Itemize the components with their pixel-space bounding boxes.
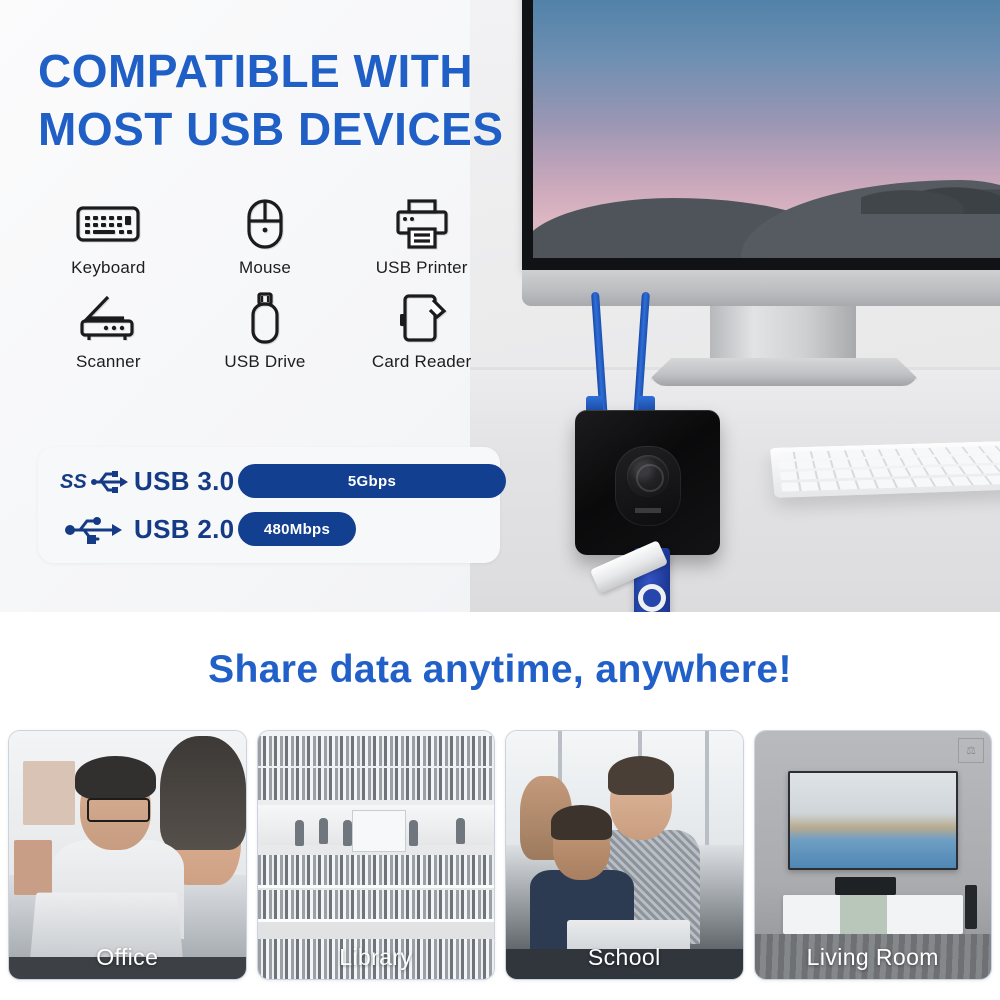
usb2-speed-badge: 480Mbps	[238, 512, 356, 546]
device-item-usb-printer: USB Printer	[343, 196, 500, 278]
svg-text:SS: SS	[60, 471, 87, 493]
library-photo	[258, 731, 495, 979]
usb3-standard-label: USB 3.0	[134, 466, 238, 497]
monitor-screen-wallpaper	[533, 0, 1000, 258]
scenario-card-library: Library	[257, 730, 496, 980]
card-reader-icon	[387, 290, 457, 346]
tagline: Share data anytime, anywhere!	[0, 648, 1000, 692]
school-photo	[506, 731, 743, 979]
product-infographic: COMPATIBLE WITH MOST USB DEVICES	[0, 0, 1000, 1000]
office-photo	[9, 731, 246, 979]
device-item-keyboard: Keyboard	[30, 196, 187, 278]
usb3-speed-badge: 5Gbps	[238, 464, 506, 498]
scenario-card-school: School	[505, 730, 744, 980]
device-item-card-reader: Card Reader	[343, 290, 500, 372]
usb2-standard-label: USB 2.0	[134, 514, 238, 545]
monitor-stand-neck	[710, 306, 856, 366]
device-item-scanner: Scanner	[30, 290, 187, 372]
switch-led-indicators	[635, 508, 661, 513]
usb-trident-logo	[60, 512, 134, 546]
watermark-icon: ⚖	[958, 738, 984, 762]
desk-scene-photo	[470, 0, 1000, 612]
hero-section: COMPATIBLE WITH MOST USB DEVICES	[0, 0, 1000, 612]
scenario-cards: Office Library	[8, 730, 992, 980]
scenario-card-living-room: ⚖ Living Room	[754, 730, 993, 980]
scanner-icon	[73, 290, 143, 346]
device-item-usb-drive: USB Drive	[187, 290, 344, 372]
device-label: USB Drive	[224, 352, 305, 372]
device-label: Scanner	[76, 352, 141, 372]
speed-row-usb2: USB 2.0 480Mbps	[60, 509, 356, 549]
mouse-icon	[230, 196, 300, 252]
usb-flash-drive	[618, 548, 680, 612]
usb-switch-device	[575, 410, 720, 555]
switch-button-pad	[615, 446, 681, 526]
living-room-photo: ⚖	[755, 731, 992, 979]
monitor-bezel	[522, 0, 1000, 270]
speed-row-usb3: SS USB 3.0 5Gbps	[60, 461, 506, 501]
scenario-card-office: Office	[8, 730, 247, 980]
monitor-stand-foot	[650, 358, 918, 386]
usb-superspeed-logo: SS	[60, 464, 134, 498]
card-label: Library	[258, 944, 495, 971]
device-label: Keyboard	[71, 258, 145, 278]
keyboard-icon	[73, 196, 143, 252]
usb-speed-panel: SS USB 3.0 5Gbps	[38, 447, 500, 563]
headline-line-2: MOST USB DEVICES	[38, 100, 508, 158]
headline-line-1: COMPATIBLE WITH	[38, 42, 508, 100]
device-label: USB Printer	[376, 258, 468, 278]
printer-icon	[387, 196, 457, 252]
hero-headline: COMPATIBLE WITH MOST USB DEVICES	[38, 42, 508, 158]
apple-keyboard	[770, 440, 1000, 498]
device-item-mouse: Mouse	[187, 196, 344, 278]
device-label: Card Reader	[372, 352, 472, 372]
switch-button	[627, 455, 669, 497]
imac-monitor	[522, 0, 1000, 306]
card-label: Office	[9, 944, 246, 971]
device-label: Mouse	[239, 258, 291, 278]
compatible-devices-grid: Keyboard Mouse	[30, 196, 500, 372]
card-label: Living Room	[755, 944, 992, 971]
card-label: School	[506, 944, 743, 971]
usb-drive-icon	[230, 290, 300, 346]
